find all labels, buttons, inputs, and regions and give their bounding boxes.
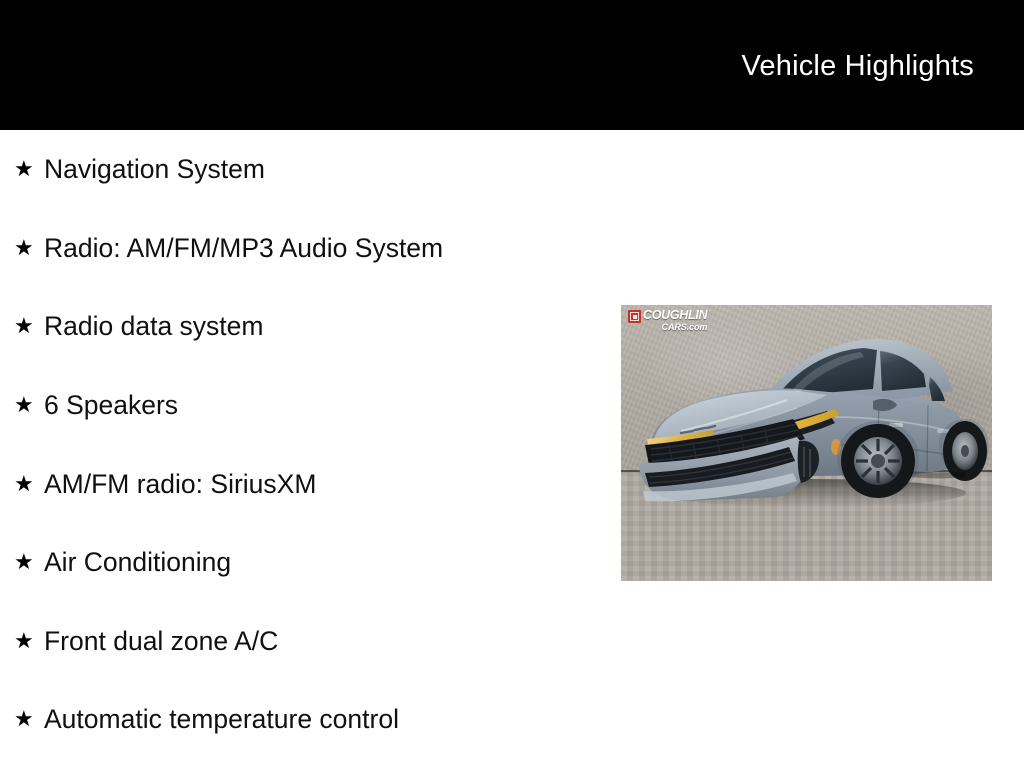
star-bullet-icon: ★ [14, 237, 44, 259]
list-item: ★ Radio data system [0, 287, 620, 366]
dealer-watermark: COUGHLIN CARS.com [628, 309, 707, 332]
rear-wheel-hub [961, 445, 969, 457]
rocker-panel [911, 471, 965, 479]
star-bullet-icon: ★ [14, 473, 44, 495]
watermark-brand: COUGHLIN [643, 309, 707, 322]
list-item-label: AM/FM radio: SiriusXM [44, 469, 316, 499]
car-illustration [621, 305, 992, 581]
list-item: ★ AM/FM radio: SiriusXM [0, 444, 620, 523]
list-item: ★ Navigation System [0, 130, 620, 209]
list-item-label: Front dual zone A/C [44, 626, 278, 656]
list-item: ★ Radio: AM/FM/MP3 Audio System [0, 209, 620, 288]
list-item: ★ Air Conditioning [0, 523, 620, 602]
star-bullet-icon: ★ [14, 551, 44, 573]
star-bullet-icon: ★ [14, 630, 44, 652]
list-item-label: 6 Speakers [44, 390, 178, 420]
list-item-label: Air Conditioning [44, 547, 231, 577]
list-item-label: Radio: AM/FM/MP3 Audio System [44, 233, 443, 263]
page-title: Vehicle Highlights [741, 49, 974, 83]
star-bullet-icon: ★ [14, 315, 44, 337]
list-item: ★ Automatic temperature control [0, 680, 620, 759]
star-bullet-icon: ★ [14, 394, 44, 416]
coughlin-logo-icon [628, 310, 641, 323]
list-item-label: Navigation System [44, 154, 265, 184]
header-bar: Vehicle Highlights [0, 0, 1024, 130]
front-wheel-hub [871, 454, 885, 468]
list-item: ★ 6 Speakers [0, 366, 620, 445]
list-item-label: Radio data system [44, 311, 263, 341]
star-bullet-icon: ★ [14, 708, 44, 730]
star-bullet-icon: ★ [14, 158, 44, 180]
vehicle-photo: COUGHLIN CARS.com [621, 305, 992, 581]
list-item-label: Automatic temperature control [44, 704, 399, 734]
watermark-domain: CARS.com [662, 323, 708, 332]
list-item: ★ Front dual zone A/C [0, 602, 620, 681]
vehicle-highlights-list: ★ Navigation System ★ Radio: AM/FM/MP3 A… [0, 130, 620, 759]
